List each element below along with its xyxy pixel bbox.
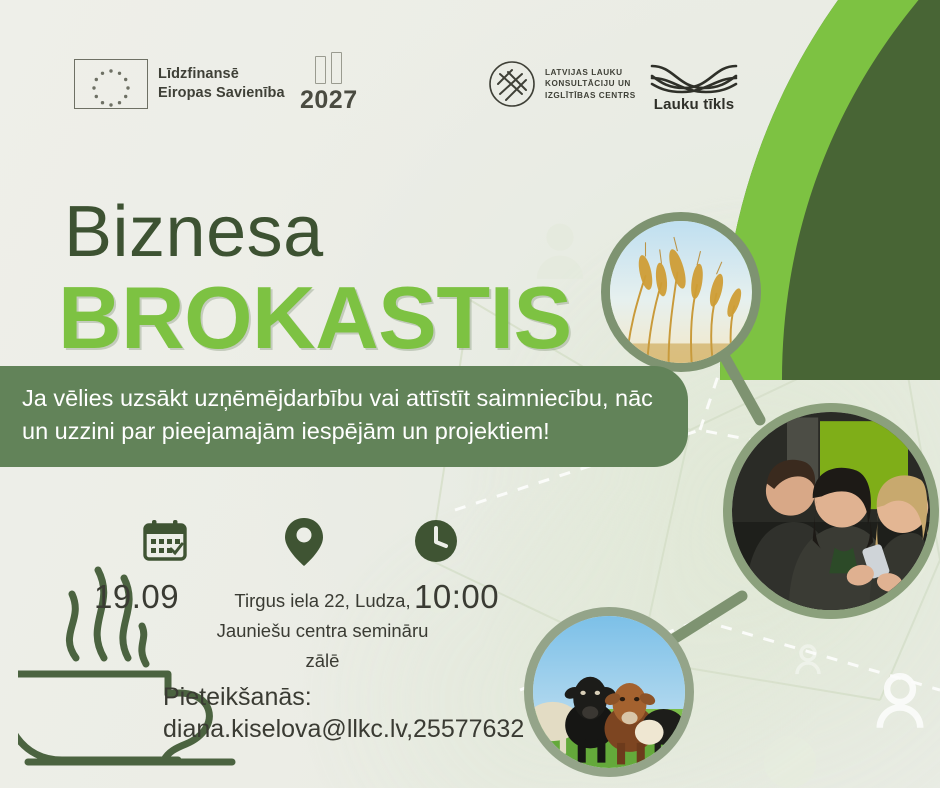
wheat-field-photo [601,212,761,372]
page-title-line1: Biznesa [64,196,324,268]
three-people-with-phone-photo [723,403,939,619]
event-description-banner: Ja vēlies uzsākt uzņēmējdarbību vai attī… [0,366,688,467]
cows-in-pasture-photo [524,607,694,777]
map-pin-icon [283,516,325,568]
event-info-icons [0,518,940,572]
calendar-icon [142,518,188,564]
event-time: 10:00 [414,578,499,616]
page-title-line2: BROKASTIS [58,274,572,362]
event-location: Tirgus iela 22, Ludza, Jauniešu centra s… [210,586,435,676]
registration-contact: Pieteikšanās: diana.kiselova@llkc.lv,255… [163,681,524,745]
event-date: 19.09 [94,578,179,616]
clock-icon [413,518,459,564]
poster-canvas: Līdzfinansē Eiropas Savienība 2027 LATVI… [0,0,940,788]
